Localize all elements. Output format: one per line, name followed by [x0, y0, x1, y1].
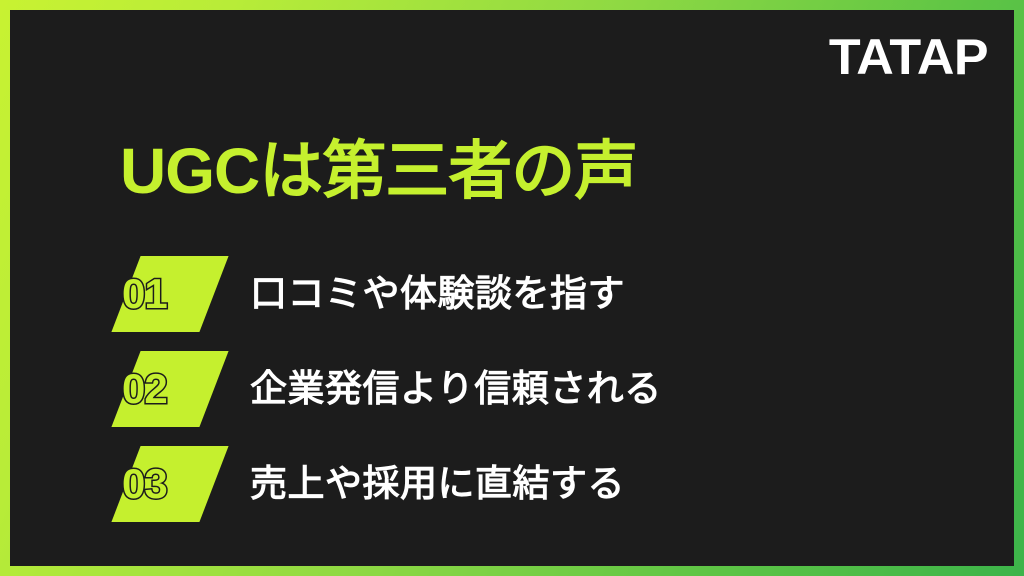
badge-number: 02 [122, 368, 167, 410]
list-item-label: 口コミや体験談を指す [250, 275, 625, 312]
brand-logo: TATAP [829, 32, 988, 82]
list-item-badge: 02 [112, 349, 232, 429]
badge-number: 03 [122, 463, 167, 505]
page-title: UGCは第三者の声 [120, 136, 637, 206]
slide-content-area: TATAP UGCは第三者の声 01 口コミや体験談を指す 02 企業発信より信… [10, 10, 1014, 566]
list-item: 01 口コミや体験談を指す [112, 246, 972, 341]
list-item-label: 売上や採用に直結する [250, 465, 625, 502]
bullet-list: 01 口コミや体験談を指す 02 企業発信より信頼される 03 売上や採用に直結… [112, 246, 972, 531]
list-item-badge: 01 [112, 254, 232, 334]
list-item: 02 企業発信より信頼される [112, 341, 972, 436]
list-item: 03 売上や採用に直結する [112, 436, 972, 531]
list-item-label: 企業発信より信頼される [250, 370, 662, 407]
list-item-badge: 03 [112, 444, 232, 524]
slide-frame: TATAP UGCは第三者の声 01 口コミや体験談を指す 02 企業発信より信… [0, 0, 1024, 576]
badge-number: 01 [122, 273, 167, 315]
